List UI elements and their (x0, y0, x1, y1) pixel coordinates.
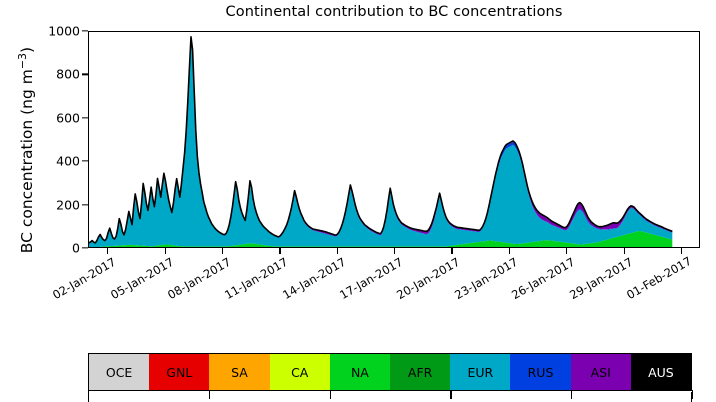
x-tick-mark (509, 248, 510, 254)
colorbar-lower-box (88, 392, 692, 402)
x-tick-mark (222, 248, 223, 254)
area-layer-eur (89, 42, 672, 247)
x-tick-label: 11-Jan-2017 (222, 256, 288, 302)
x-tick-label: 17-Jan-2017 (337, 256, 403, 302)
colorbar-segment-label: GNL (166, 365, 192, 380)
colorbar-tick-mark (88, 390, 89, 399)
stacked-area-plot (89, 32, 700, 248)
colorbar-segment-oce[interactable]: OCE (89, 354, 149, 390)
colorbar-segment-label: AUS (648, 365, 674, 380)
colorbar-segment-label: AFR (408, 365, 432, 380)
y-tick-label: 200 (56, 197, 80, 212)
x-tick-mark (337, 248, 338, 254)
colorbar-segment-eur[interactable]: EUR (450, 354, 510, 390)
colorbar-segment-label: SA (231, 365, 248, 380)
x-tick-label: 26-Jan-2017 (509, 256, 575, 302)
colorbar-segment-afr[interactable]: AFR (390, 354, 450, 390)
x-tick-mark (624, 248, 625, 254)
x-tick-label: 14-Jan-2017 (280, 256, 346, 302)
figure: Continental contribution to BC concentra… (0, 0, 716, 402)
colorbar-segment-ca[interactable]: CA (270, 354, 330, 390)
colorbar-segment-label: NA (351, 365, 369, 380)
colorbar-tick-mark (692, 390, 693, 399)
colorbar-segment-label: OCE (106, 365, 132, 380)
x-tick-label: 01-Feb-2017 (624, 256, 690, 302)
colorbar-tick-mark (209, 390, 210, 399)
x-tick-mark (681, 248, 682, 254)
x-tick-label: 08-Jan-2017 (165, 256, 231, 302)
x-tick-mark (279, 248, 280, 254)
colorbar-segment-rus[interactable]: RUS (510, 354, 570, 390)
colorbar-tick-mark (571, 390, 572, 399)
chart-title: Continental contribution to BC concentra… (88, 4, 700, 20)
y-tick-label: 400 (56, 154, 80, 169)
x-tick-label: 20-Jan-2017 (394, 256, 460, 302)
colorbar-segment-label: ASI (591, 365, 611, 380)
colorbar-segment-na[interactable]: NA (330, 354, 390, 390)
colorbar-segment-gnl[interactable]: GNL (149, 354, 209, 390)
plot-area (88, 31, 700, 248)
colorbar-segment-sa[interactable]: SA (209, 354, 269, 390)
y-tick-label: 800 (56, 67, 80, 82)
x-tick-label: 23-Jan-2017 (452, 256, 518, 302)
colorbar-tick-mark (330, 390, 331, 399)
x-tick-label: 02-Jan-2017 (50, 256, 116, 302)
colorbar-segment-label: EUR (467, 365, 493, 380)
x-tick-mark (165, 248, 166, 254)
y-tick-label: 1000 (48, 24, 80, 39)
colorbar-segment-label: RUS (528, 365, 554, 380)
colorbar-segment-aus[interactable]: AUS (631, 354, 691, 390)
x-tick-label: 05-Jan-2017 (108, 256, 174, 302)
y-tick-label: 600 (56, 110, 80, 125)
colorbar-segment-label: CA (291, 365, 308, 380)
x-tick-mark (107, 248, 108, 254)
x-tick-label: 29-Jan-2017 (567, 256, 633, 302)
colorbar-tick-mark (450, 390, 451, 399)
x-tick-mark (566, 248, 567, 254)
y-axis-ticks: 02004006008001000 (0, 31, 80, 248)
x-tick-mark (394, 248, 395, 254)
y-tick-label: 0 (72, 241, 80, 256)
colorbar-segment-asi[interactable]: ASI (571, 354, 631, 390)
continent-colorbar-legend[interactable]: OCEGNLSACANAAFREURRUSASIAUS (88, 353, 692, 391)
x-tick-mark (451, 248, 452, 254)
